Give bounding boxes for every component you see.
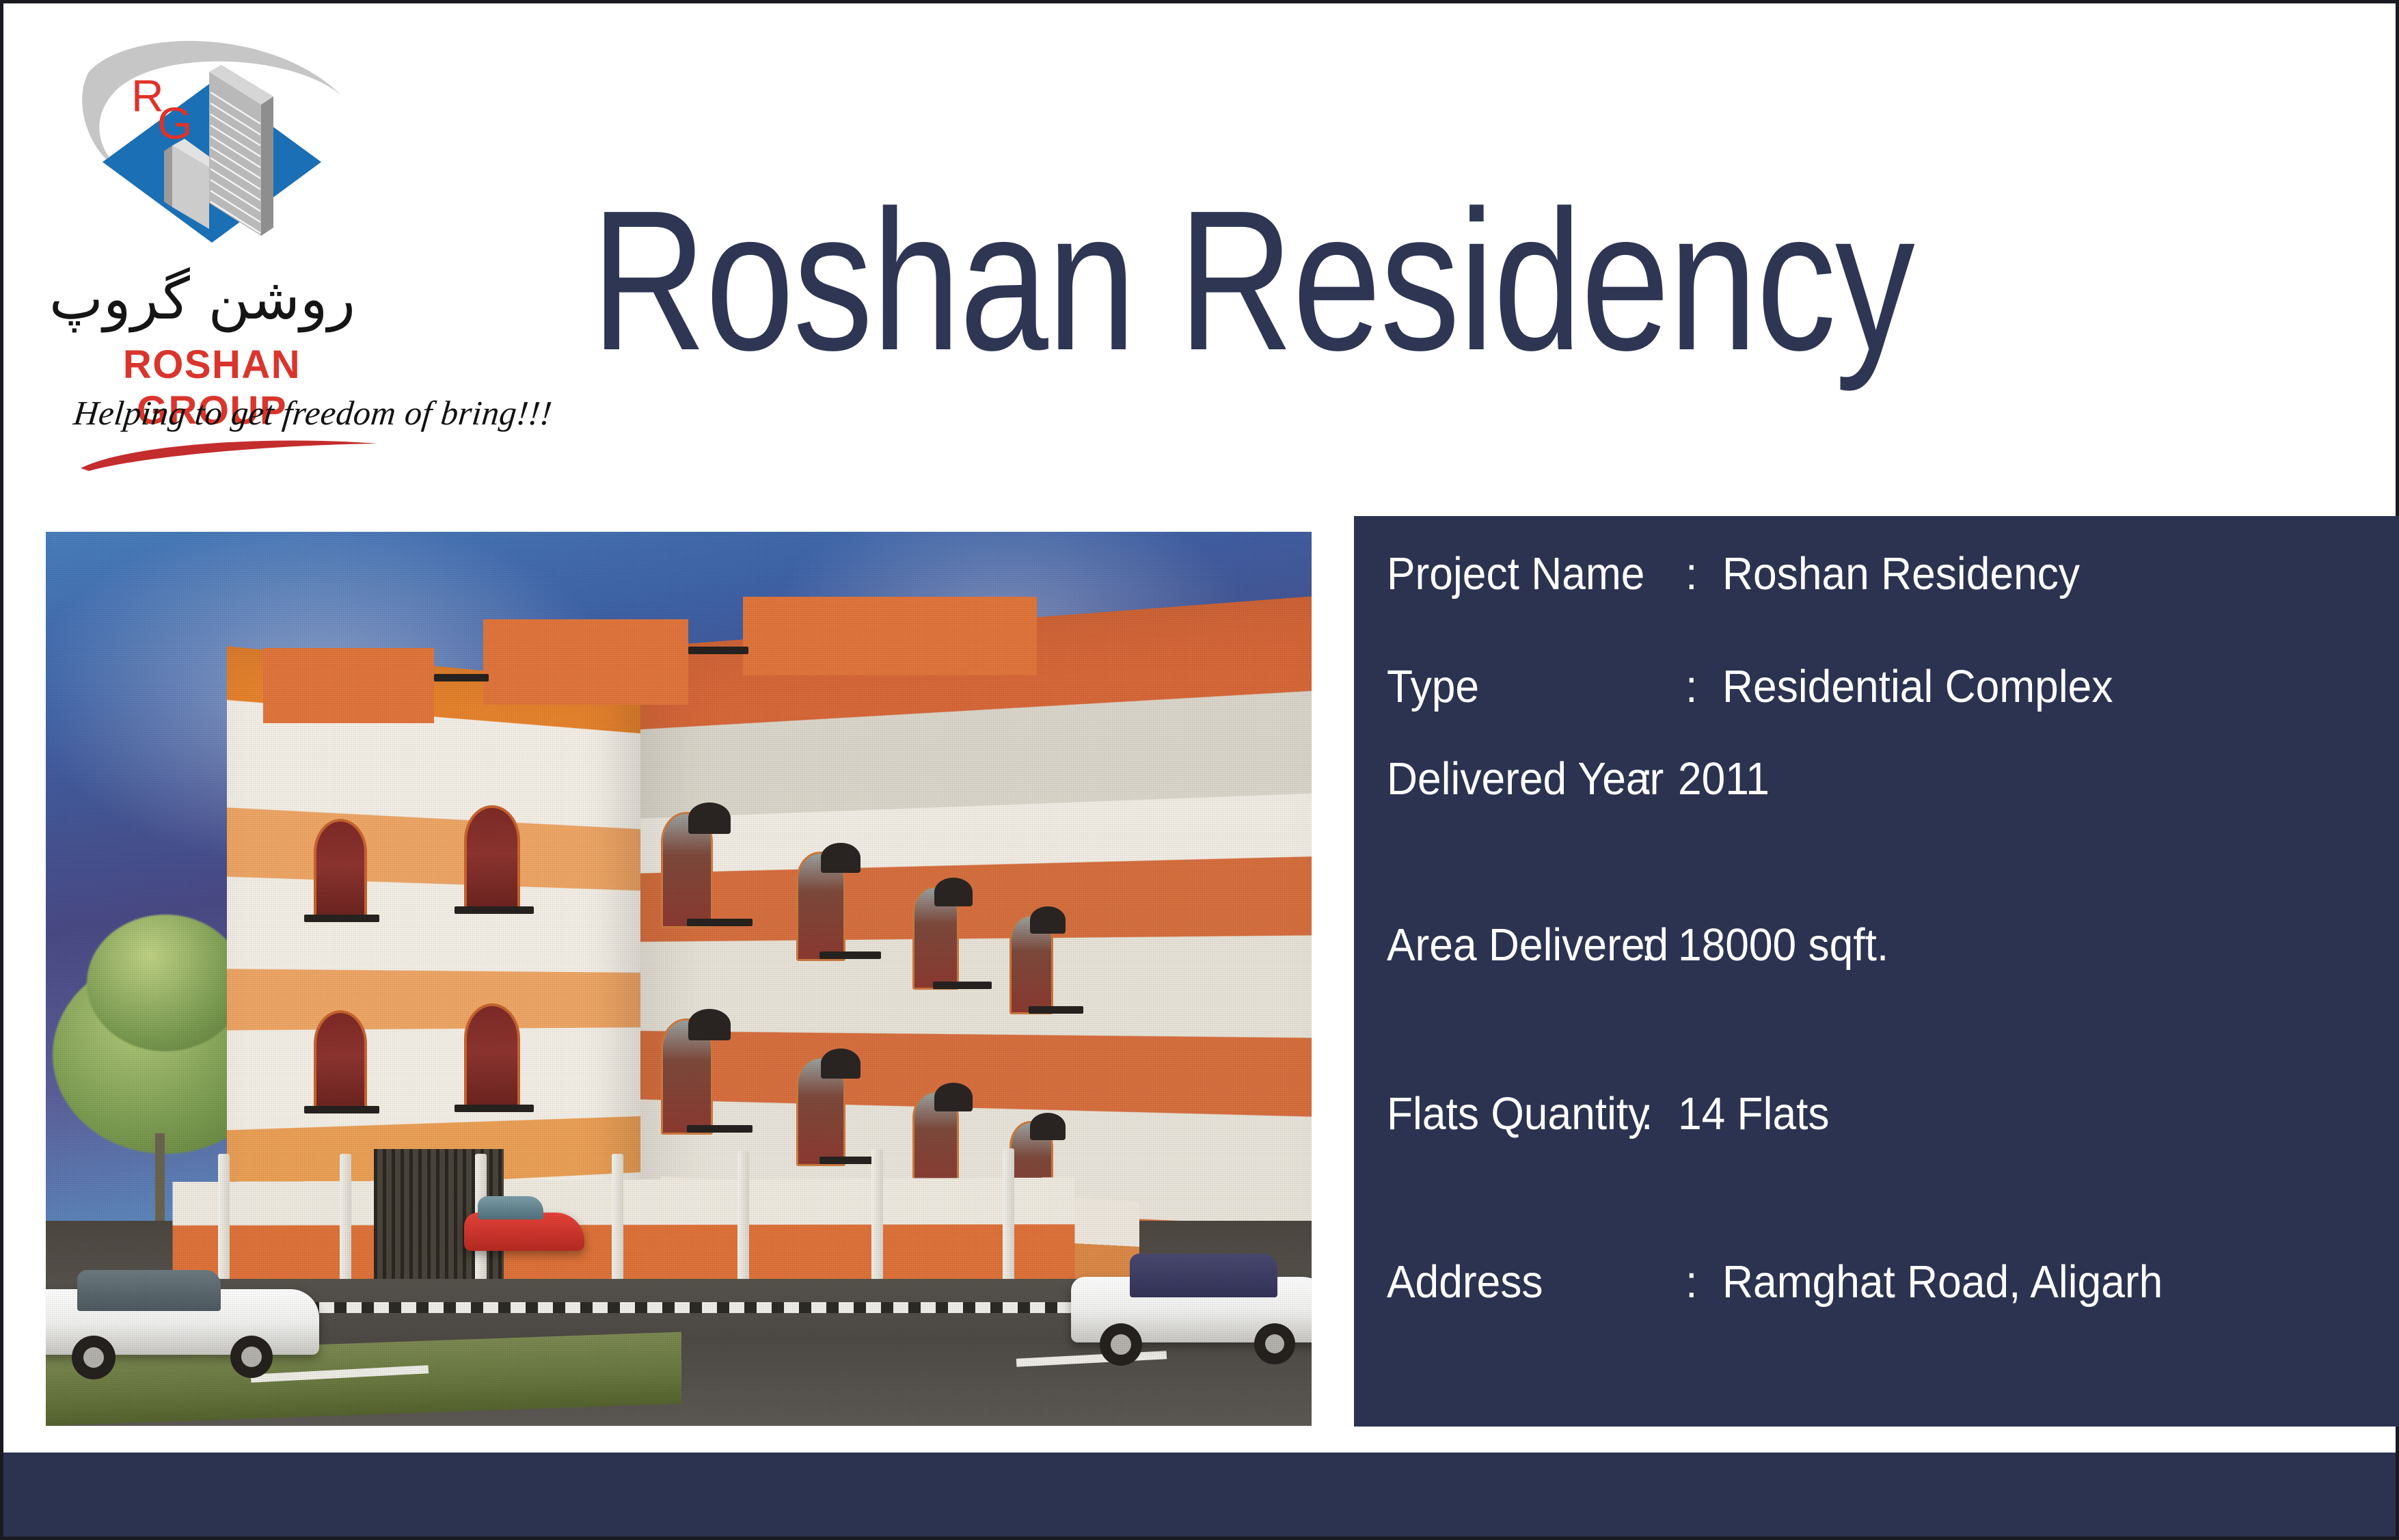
project-photo xyxy=(46,532,1312,1426)
info-row-address: Address:Ramghat Road, Aligarh xyxy=(1387,1257,2163,1308)
car-right-wheel-front xyxy=(1100,1323,1142,1366)
info-separator-delivered-year: : xyxy=(1641,754,1678,805)
info-label-type: Type xyxy=(1387,662,1685,712)
balcony-rail-side-3-f3 xyxy=(933,982,992,989)
car-red-glass xyxy=(478,1196,543,1219)
roshan-group-emblem-icon: R G xyxy=(68,31,355,256)
balcony-rail-side-4-f3 xyxy=(1029,1006,1083,1014)
balcony-rail-side-2-f3 xyxy=(819,951,881,959)
balcony-rail-side-1-f3 xyxy=(687,919,753,926)
balcony-rail-front-b-f3 xyxy=(455,906,534,914)
window-front-f3 xyxy=(314,819,367,921)
tower-side-face xyxy=(261,96,273,236)
info-label-address: Address xyxy=(1387,1257,1685,1308)
car-left-glass xyxy=(77,1270,221,1311)
car-left-wheel-rear xyxy=(230,1336,273,1378)
project-info-panel: Project Name:Roshan Residency Type:Resid… xyxy=(1354,516,2399,1427)
parapet-right xyxy=(743,597,1037,675)
awning-side-4-f3 xyxy=(1030,906,1066,934)
awning-side-1-f2 xyxy=(688,1009,731,1040)
window-front-b-f2 xyxy=(464,1003,520,1111)
window-front-f2 xyxy=(314,1010,367,1113)
tree-left-canopy-top xyxy=(87,915,244,1051)
awning-side-2-f3 xyxy=(821,843,860,873)
parapet-mid xyxy=(483,619,688,705)
car-red-behind-gate xyxy=(464,1195,584,1254)
info-separator-type: : xyxy=(1685,662,1722,712)
car-right-wheel-rear xyxy=(1254,1323,1295,1364)
info-value-area-delivered: 18000 sqft. xyxy=(1678,920,1888,971)
awning-side-1-f3 xyxy=(688,802,731,834)
info-row-delivered-year: Delivered Year:2011 xyxy=(1387,754,1770,805)
info-row-type: Type:Residential Complex xyxy=(1387,662,2113,712)
footer-bar xyxy=(3,1453,2396,1537)
info-value-delivered-year: 2011 xyxy=(1678,754,1770,805)
logo-tagline: Helping to get freedom of bring!!! xyxy=(68,393,390,468)
info-separator-flats-quantity: : xyxy=(1641,1089,1678,1139)
brochure-page: R G روشن گروپ ROSHAN GROUP Helping to ge… xyxy=(0,0,2399,1540)
info-value-flats-quantity: 14 Flats xyxy=(1678,1089,1830,1139)
roof-rail-mid xyxy=(688,647,748,654)
parapet-left xyxy=(263,648,434,723)
company-logo: R G روشن گروپ ROSHAN GROUP Helping to ge… xyxy=(68,31,396,468)
info-label-delivered-year: Delivered Year xyxy=(1387,754,1641,805)
awning-side-2-f2 xyxy=(821,1049,860,1079)
info-separator-address: : xyxy=(1685,1257,1722,1308)
info-row-flats-quantity: Flats Quantity:14 Flats xyxy=(1387,1089,1830,1139)
info-value-type: Residential Complex xyxy=(1722,662,2113,712)
awning-side-4-f2 xyxy=(1030,1113,1066,1140)
balcony-rail-front-f3 xyxy=(304,915,379,922)
info-row-project-name: Project Name:Roshan Residency xyxy=(1387,549,2080,599)
info-separator-area-delivered: : xyxy=(1641,920,1678,971)
tower-low-side xyxy=(164,146,172,207)
info-label-project-name: Project Name xyxy=(1387,549,1685,599)
tree-left-trunk xyxy=(155,1133,165,1222)
logo-mark-icon: R G xyxy=(68,31,355,256)
balcony-rail-front-b-f2 xyxy=(455,1105,534,1112)
awning-side-3-f2 xyxy=(934,1083,973,1111)
window-front-b-f3 xyxy=(464,805,520,913)
car-left-wheel-front xyxy=(72,1336,116,1379)
car-right-glass xyxy=(1130,1254,1277,1297)
header: R G روشن گروپ ROSHAN GROUP Helping to ge… xyxy=(3,3,2396,509)
logo-letter-g: G xyxy=(157,98,192,148)
page-title: Roshan Residency xyxy=(591,178,1991,383)
info-row-area-delivered: Area Delivered:18000 sqft. xyxy=(1387,920,1888,971)
info-separator-project-name: : xyxy=(1685,549,1722,599)
car-right xyxy=(1071,1249,1312,1352)
tagline-underline-swoosh-icon xyxy=(68,433,390,474)
info-label-area-delivered: Area Delivered xyxy=(1387,920,1641,971)
roof-rail-left xyxy=(434,674,489,681)
car-left xyxy=(46,1265,319,1366)
awning-side-3-f3 xyxy=(934,878,973,906)
info-value-project-name: Roshan Residency xyxy=(1722,549,2080,599)
balcony-rail-front-f2 xyxy=(304,1106,379,1113)
logo-urdu-name: روشن گروپ xyxy=(68,263,355,338)
balcony-rail-side-1-f2 xyxy=(687,1125,753,1133)
info-label-flats-quantity: Flats Quantity xyxy=(1387,1089,1641,1139)
logo-tagline-text: Helping to get freedom of bring!!! xyxy=(72,393,554,433)
info-value-address: Ramghat Road, Aligarh xyxy=(1722,1257,2163,1308)
